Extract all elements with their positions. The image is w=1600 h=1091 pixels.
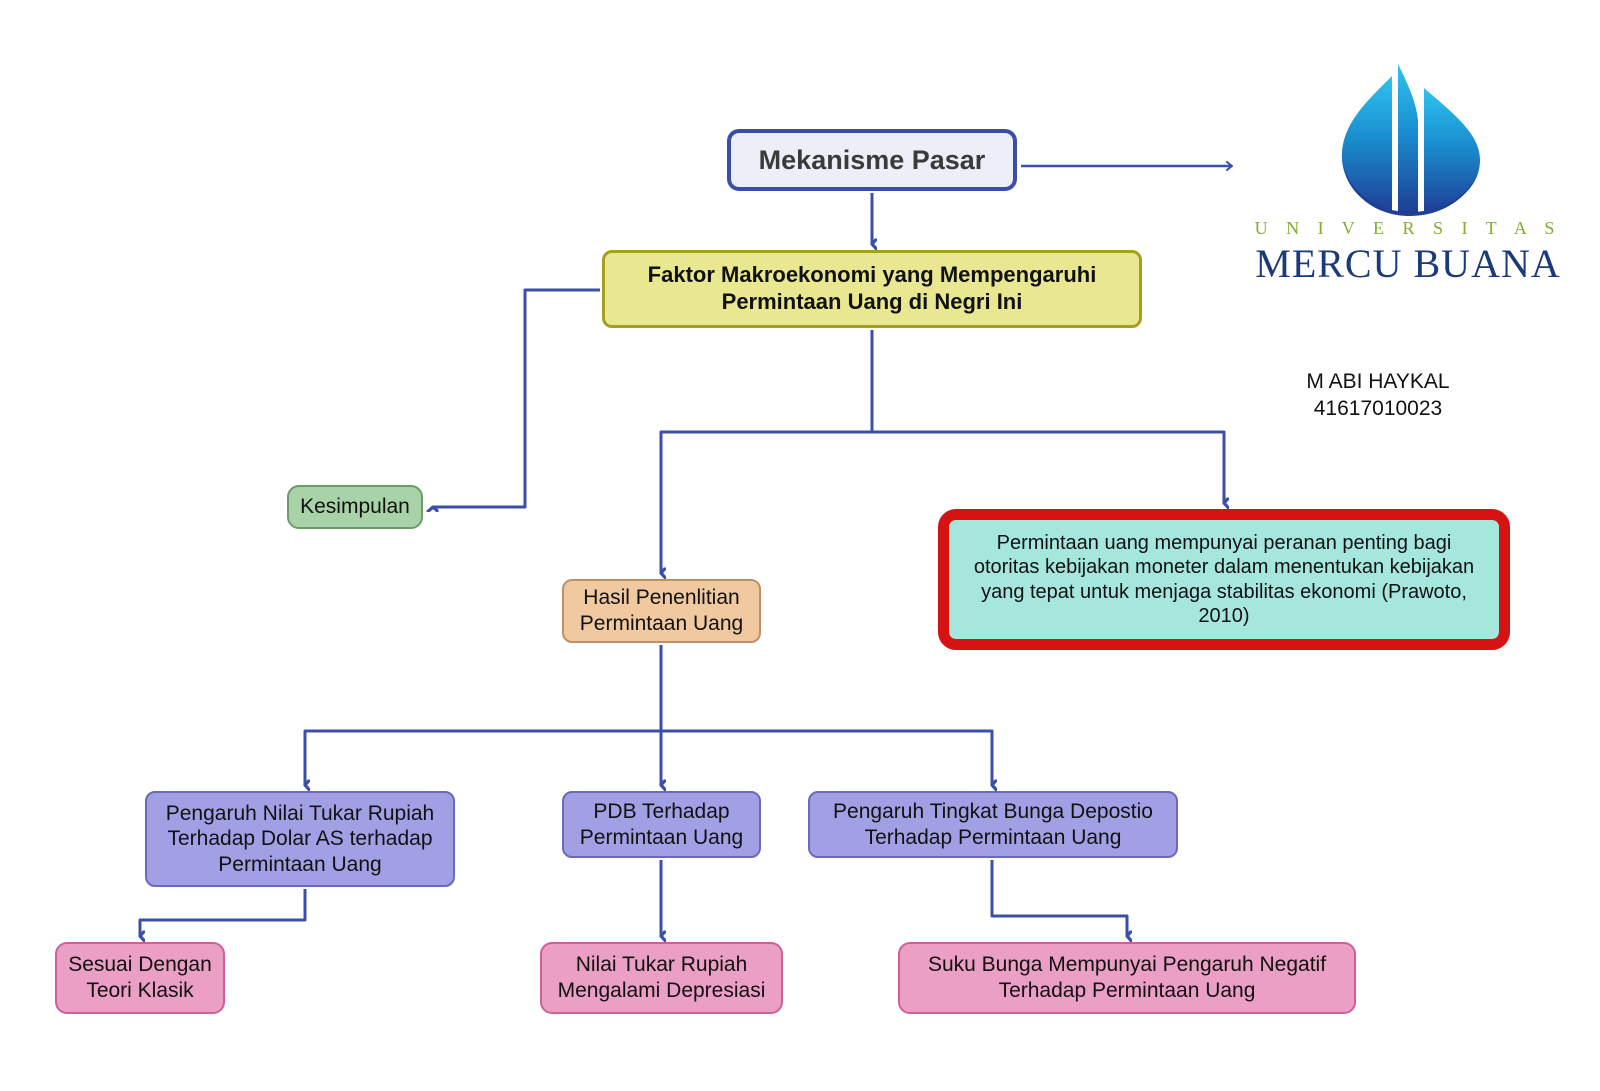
edge-faktor-hasil <box>661 432 872 573</box>
author-block: M ABI HAYKAL 41617010023 <box>1208 368 1548 423</box>
node-quote-label: Permintaan uang mempunyai peranan pentin… <box>967 531 1481 629</box>
node-suku-bunga-negatif[interactable]: Suku Bunga Mempunyai Pengaruh Negatif Te… <box>898 942 1356 1014</box>
node-p3-label: Pengaruh Tingkat Bunga Depostio Terhadap… <box>810 799 1176 850</box>
node-k3-label: Suku Bunga Mempunyai Pengaruh Negatif Te… <box>900 952 1354 1003</box>
node-faktor-makroekonomi[interactable]: Faktor Makroekonomi yang Mempengaruhi Pe… <box>602 250 1142 328</box>
node-faktor-label: Faktor Makroekonomi yang Mempengaruhi Pe… <box>605 262 1139 316</box>
edge-hasil-p3 <box>661 731 992 785</box>
node-hasil-penelitian[interactable]: Hasil Penenlitian Permintaan Uang <box>562 579 761 643</box>
node-root-label: Mekanisme Pasar <box>759 144 986 177</box>
edge-faktor-kesimpulan <box>433 290 600 507</box>
author-name: M ABI HAYKAL <box>1208 368 1548 395</box>
university-logo: U N I V E R S I T A S MERCU BUANA <box>1238 60 1578 288</box>
node-p1-label: Pengaruh Nilai Tukar Rupiah Terhadap Dol… <box>147 801 453 878</box>
edge-p1-k1 <box>140 889 305 936</box>
node-mekanisme-pasar[interactable]: Mekanisme Pasar <box>727 129 1017 191</box>
node-k2-label: Nilai Tukar Rupiah Mengalami Depresiasi <box>542 952 781 1003</box>
mercu-buana-flame-icon <box>1330 60 1490 216</box>
node-nilai-tukar-depresiasi[interactable]: Nilai Tukar Rupiah Mengalami Depresiasi <box>540 942 783 1014</box>
node-kesimpulan[interactable]: Kesimpulan <box>287 485 423 529</box>
edge-p3-k3 <box>992 860 1127 936</box>
node-k1-label: Sesuai Dengan Teori Klasik <box>57 952 223 1003</box>
edge-hasil-p1 <box>305 731 661 785</box>
node-kesimpulan-label: Kesimpulan <box>300 494 410 520</box>
edge-faktor-quote <box>872 432 1224 503</box>
node-p2-label: PDB Terhadap Permintaan Uang <box>564 799 759 850</box>
node-hasil-label: Hasil Penenlitian Permintaan Uang <box>564 585 759 636</box>
node-quote-prawoto[interactable]: Permintaan uang mempunyai peranan pentin… <box>938 509 1510 650</box>
diagram-canvas: Mekanisme Pasar Faktor Makroekonomi yang… <box>0 0 1600 1091</box>
node-pdb-permintaan-uang[interactable]: PDB Terhadap Permintaan Uang <box>562 791 761 858</box>
node-sesuai-teori-klasik[interactable]: Sesuai Dengan Teori Klasik <box>55 942 225 1014</box>
node-pengaruh-nilai-tukar[interactable]: Pengaruh Nilai Tukar Rupiah Terhadap Dol… <box>145 791 455 887</box>
logo-mercu-buana-text: MERCU BUANA <box>1238 240 1578 287</box>
node-pengaruh-bunga-deposito[interactable]: Pengaruh Tingkat Bunga Depostio Terhadap… <box>808 791 1178 858</box>
author-student-id: 41617010023 <box>1208 395 1548 422</box>
logo-universitas-text: U N I V E R S I T A S <box>1238 218 1578 239</box>
